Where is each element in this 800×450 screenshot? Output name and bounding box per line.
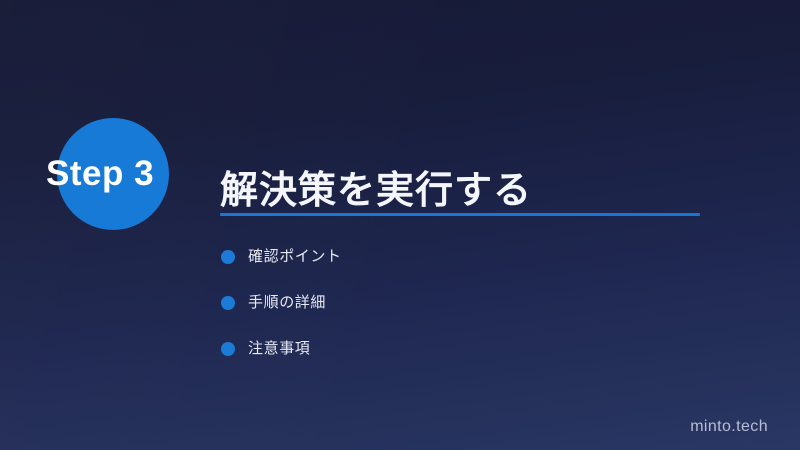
bullet-dot-icon [221, 296, 235, 310]
list-item: 確認ポイント [221, 234, 691, 280]
list-item-label: 手順の詳細 [248, 293, 326, 313]
list-item: 手順の詳細 [221, 280, 691, 326]
list-item: 注意事項 [221, 326, 691, 372]
footer-brand: minto.tech [690, 417, 768, 437]
bullet-dot-icon [221, 342, 235, 356]
list-item-label: 注意事項 [248, 339, 310, 359]
presentation-slide: Step 3 解決策を実行する 確認ポイント 手順の詳細 注意事項 minto.… [0, 0, 800, 450]
step-label: Step 3 [46, 153, 206, 195]
bullet-dot-icon [221, 250, 235, 264]
bullet-list: 確認ポイント 手順の詳細 注意事項 [221, 234, 691, 372]
page-title: 解決策を実行する [220, 167, 532, 215]
list-item-label: 確認ポイント [248, 247, 342, 267]
